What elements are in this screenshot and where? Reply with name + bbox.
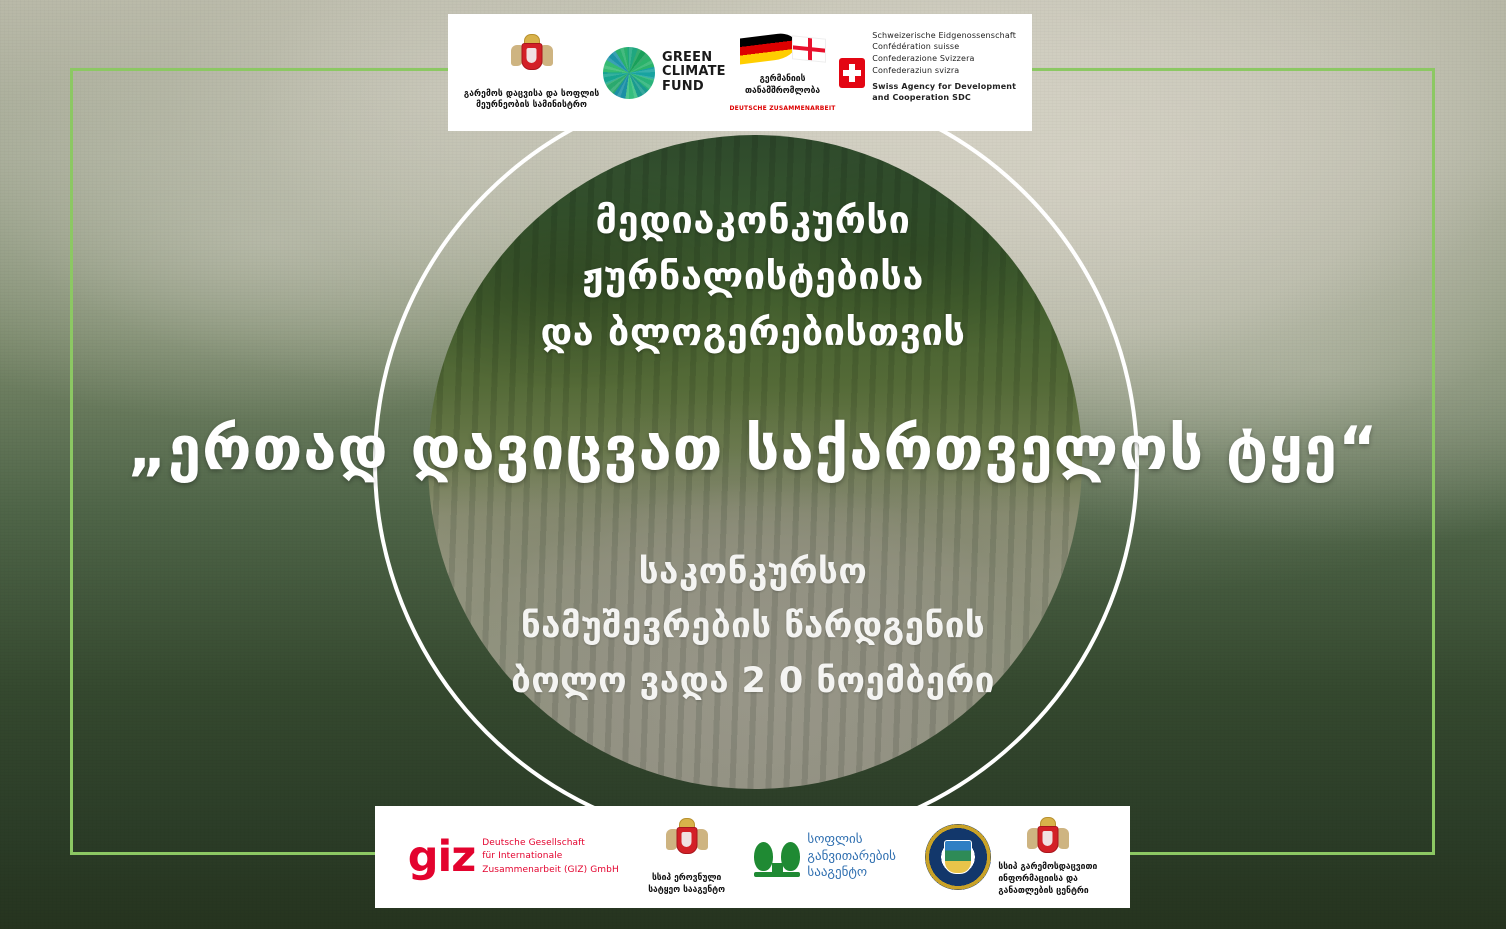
forestry-agency-label: სსიპ ეროვნული სატყეო სააგენტო: [648, 873, 725, 897]
logo-german-cooperation: გერმანიის თანამშრომლობა DEUTSCHE ZUSAMME…: [729, 33, 835, 111]
green-climate-fund-label: GREEN CLIMATE FUND: [662, 51, 726, 95]
german-cooperation-label: გერმანიის თანამშრომლობა: [745, 74, 820, 96]
georgia-coat-of-arms-icon: [1026, 817, 1070, 861]
eic-logo-column: სსიპ გარემოსდაცვითი ინფორმაციისა და განა…: [998, 817, 1097, 898]
environmental-center-label: სსიპ გარემოსდაცვითი ინფორმაციისა და განა…: [998, 861, 1097, 898]
logo-national-forestry-agency: სსიპ ეროვნული სატყეო სააგენტო: [648, 818, 725, 897]
germany-georgia-flags-icon: [740, 33, 826, 67]
logo-giz: giz Deutsche Gesellschaft für Internatio…: [408, 837, 619, 876]
logo-environmental-information-center: სსიპ გარემოსდაცვითი ინფორმაციისა და განა…: [925, 817, 1097, 898]
giz-wordmark: giz: [408, 838, 476, 877]
ministry-label: გარემოს დაცვისა და სოფლის მეურნეობის სამ…: [464, 89, 599, 112]
rural-development-label: სოფლის განვითარების სააგენტო: [807, 832, 896, 883]
inner-circle-image: [428, 135, 1082, 789]
top-logo-panel: გარემოს დაცვისა და სოფლის მეურნეობის სამ…: [448, 14, 1032, 131]
swiss-cross-icon: [839, 58, 865, 88]
georgia-coat-of-arms-icon: [665, 818, 709, 862]
swiss-sdc-sublabel: Swiss Agency for Development and Coopera…: [872, 82, 1016, 104]
georgia-coat-of-arms-icon: [510, 34, 554, 78]
giz-label: Deutsche Gesellschaft für Internationale…: [482, 837, 619, 876]
swiss-confederation-label: Schweizerische Eidgenossenschaft Confédé…: [872, 30, 1016, 116]
logo-ministry-of-environment: გარემოს დაცვისა და სოფლის მეურნეობის სამ…: [464, 34, 599, 112]
logo-swiss-sdc: Schweizerische Eidgenossenschaft Confédé…: [839, 30, 1016, 116]
state-seal-icon: [925, 824, 991, 890]
logo-rural-development-agency: სოფლის განვითარების სააგენტო: [754, 832, 896, 883]
poster-canvas: გარემოს დაცვისა და სოფლის მეურნეობის სამ…: [0, 0, 1506, 929]
two-trees-icon: [754, 837, 800, 877]
german-cooperation-sublabel: DEUTSCHE ZUSAMMENARBEIT: [729, 105, 835, 112]
bottom-logo-panel: giz Deutsche Gesellschaft für Internatio…: [375, 806, 1130, 908]
logo-green-climate-fund: GREEN CLIMATE FUND: [603, 47, 726, 99]
green-climate-fund-globe-icon: [603, 47, 655, 99]
